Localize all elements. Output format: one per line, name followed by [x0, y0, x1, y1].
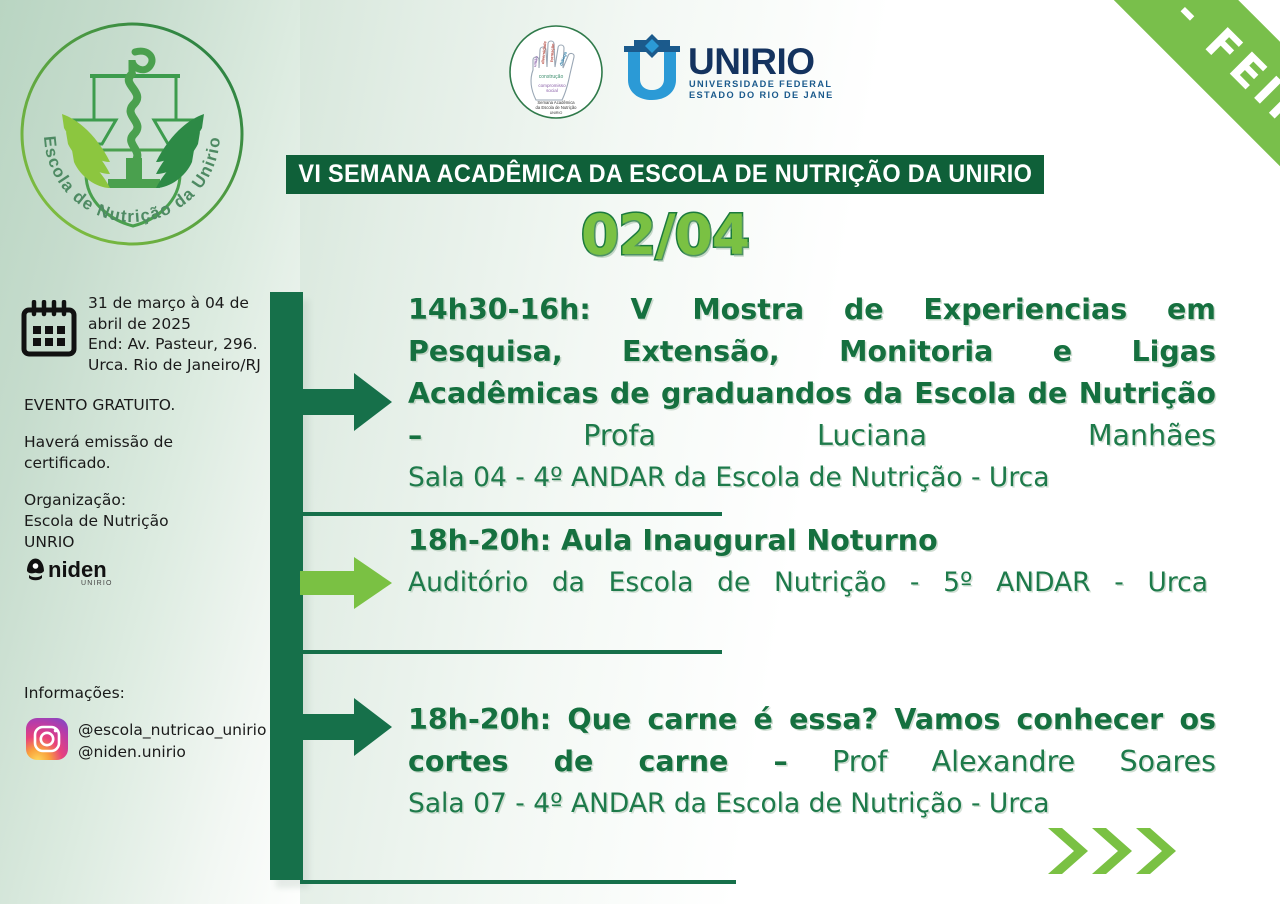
event-1-title: 14h30-16h: V Mostra de Experiencias em P…: [408, 289, 1216, 457]
organization-line2: UNRIO: [24, 532, 224, 553]
semana-caption-line3: UNIRIO: [550, 111, 563, 115]
event-3-location: Sala 07 - 4º ANDAR da Escola de Nutrição…: [408, 785, 1216, 824]
event-item-3: 18h-20h: Que carne é essa? Vamos conhece…: [408, 699, 1216, 824]
niden-logo: niden UNIRIO: [24, 553, 134, 587]
event-dates: 31 de março à 04 de abril de 2025: [88, 293, 263, 334]
event-address-line2: Urca. Rio de Janeiro/RJ: [88, 355, 263, 376]
unirio-u-mark: [624, 32, 680, 100]
title-banner: VI SEMANA ACADÊMICA DA ESCOLA DE NUTRIÇÃ…: [286, 155, 1044, 194]
unirio-tagline-2: ESTADO DO RIO DE JANEIRO: [689, 90, 834, 100]
event-poster: Escola de Nutrição da Unirio união diver…: [0, 0, 1280, 904]
niden-mark: [27, 559, 44, 581]
event-address-line1: End: Av. Pasteur, 296.: [88, 334, 263, 355]
event-item-1: 14h30-16h: V Mostra de Experiencias em P…: [408, 289, 1216, 498]
unirio-logo: UNIRIO UNIVERSIDADE FEDERAL DO ESTADO DO…: [620, 32, 834, 104]
event-2-title-text: 18h-20h: Aula Inaugural Noturno: [408, 524, 938, 557]
palm-word-construcao: construção: [539, 74, 564, 80]
chevron-decoration: [1048, 824, 1188, 878]
event-separator-1: [300, 512, 722, 516]
instagram-handle-1[interactable]: @escola_nutricao_unirio: [78, 719, 266, 741]
event-item-2: 18h-20h: Aula Inaugural Noturno Auditóri…: [408, 520, 1216, 603]
page-title: VI SEMANA ACADÊMICA DA ESCOLA DE NUTRIÇÃ…: [298, 160, 1032, 189]
instagram-handle-2[interactable]: @niden.unirio: [78, 741, 266, 763]
organization-label: Organização:: [24, 490, 224, 511]
event-1-location: Sala 04 - 4º ANDAR da Escola de Nutrição…: [408, 459, 1216, 498]
instagram-handles[interactable]: @escola_nutricao_unirio @niden.unirio: [78, 719, 266, 763]
unirio-wordmark: UNIRIO: [688, 41, 815, 82]
organization-line1: Escola de Nutrição: [24, 511, 224, 532]
free-event-note: EVENTO GRATUITO.: [24, 395, 224, 416]
event-3-speaker: Prof Alexandre Soares: [788, 745, 1216, 778]
calendar-icon: [20, 300, 78, 358]
organization-block: Organização: Escola de Nutrição UNRIO: [24, 490, 224, 553]
event-3-title: 18h-20h: Que carne é essa? Vamos conhece…: [408, 699, 1216, 783]
instagram-icon[interactable]: [26, 718, 68, 760]
timeline-bottom-rule: [300, 880, 736, 884]
unirio-tagline-1: UNIVERSIDADE FEDERAL DO: [689, 79, 834, 89]
event-separator-2: [300, 650, 722, 654]
weekday-ribbon-label: QUARTA - FEIRA: [992, 0, 1280, 172]
event-dates-block: 31 de março à 04 de abril de 2025 End: A…: [88, 293, 263, 375]
niden-sub: UNIRIO: [81, 580, 113, 587]
palm-word-social: social: [546, 88, 558, 93]
semana-academica-hand-logo: união diversidade formação diálogo const…: [506, 22, 606, 122]
event-arrow-2: [300, 557, 374, 615]
event-arrow-3: [300, 698, 374, 756]
event-2-title: 18h-20h: Aula Inaugural Noturno: [408, 520, 1216, 562]
escola-de-nutricao-seal-logo: Escola de Nutrição da Unirio: [14, 16, 250, 252]
event-arrow-1: [300, 373, 374, 431]
certificate-note: Haverá emissão de certificado.: [24, 432, 224, 474]
event-date-heading: 02/04: [286, 203, 1044, 267]
niden-wordmark: niden: [48, 557, 107, 582]
semana-caption-line2: da Escola de Nutrição: [536, 105, 578, 110]
event-2-location: Auditório da Escola de Nutrição - 5º AND…: [408, 564, 1208, 603]
timeline-spine: [270, 292, 303, 880]
info-label: Informações:: [24, 684, 125, 702]
event-1-speaker: Profa Luciana Manhães: [422, 419, 1216, 452]
